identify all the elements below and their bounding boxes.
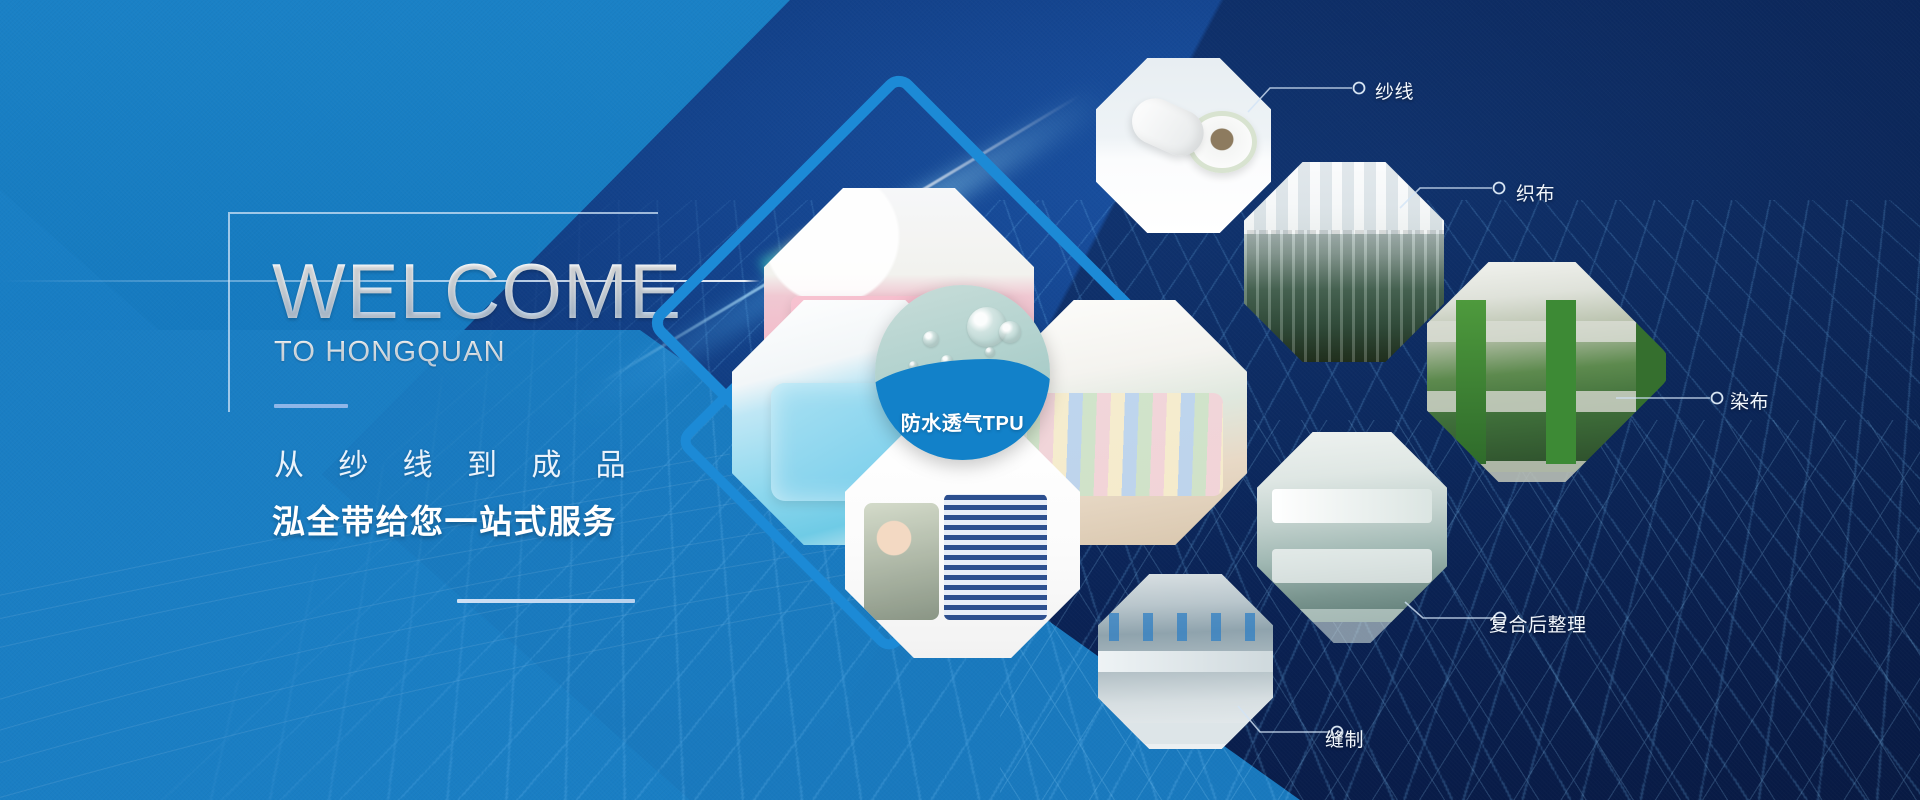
accent-rule: [274, 404, 348, 408]
dyeing-plant-photo: [1427, 262, 1637, 472]
hero-banner: WELCOME TO HONGQUAN 从 纱 线 到 成 品 泓全带给您一站式…: [0, 0, 1920, 800]
slogan: 泓全带给您一站式服务: [272, 495, 617, 543]
water-drop-icon: [999, 321, 1021, 343]
weaving-machines-photo: [1244, 162, 1444, 362]
process-label-yarn: 纱线: [1375, 77, 1414, 104]
process-label-weaving: 织布: [1516, 179, 1555, 206]
page-subtitle: TO HONGQUAN: [274, 338, 506, 367]
water-drop-icon: [985, 347, 995, 357]
yarn-cones-photo: [1096, 58, 1271, 233]
tpu-badge[interactable]: 防水透气TPU: [875, 285, 1050, 460]
laminating-line-photo: [1257, 432, 1447, 622]
water-drop-icon: [923, 331, 939, 347]
tagline: 从 纱 线 到 成 品: [274, 440, 639, 484]
tpu-badge-label: 防水透气TPU: [875, 407, 1050, 436]
process-label-dyeing: 染布: [1730, 387, 1769, 414]
bottom-rule: [457, 599, 635, 603]
sewing-floor-photo: [1098, 574, 1273, 749]
process-label-sewing: 缝制: [1325, 725, 1364, 752]
page-title: WELCOME: [272, 252, 682, 330]
process-label-laminating: 复合后整理: [1489, 610, 1587, 637]
